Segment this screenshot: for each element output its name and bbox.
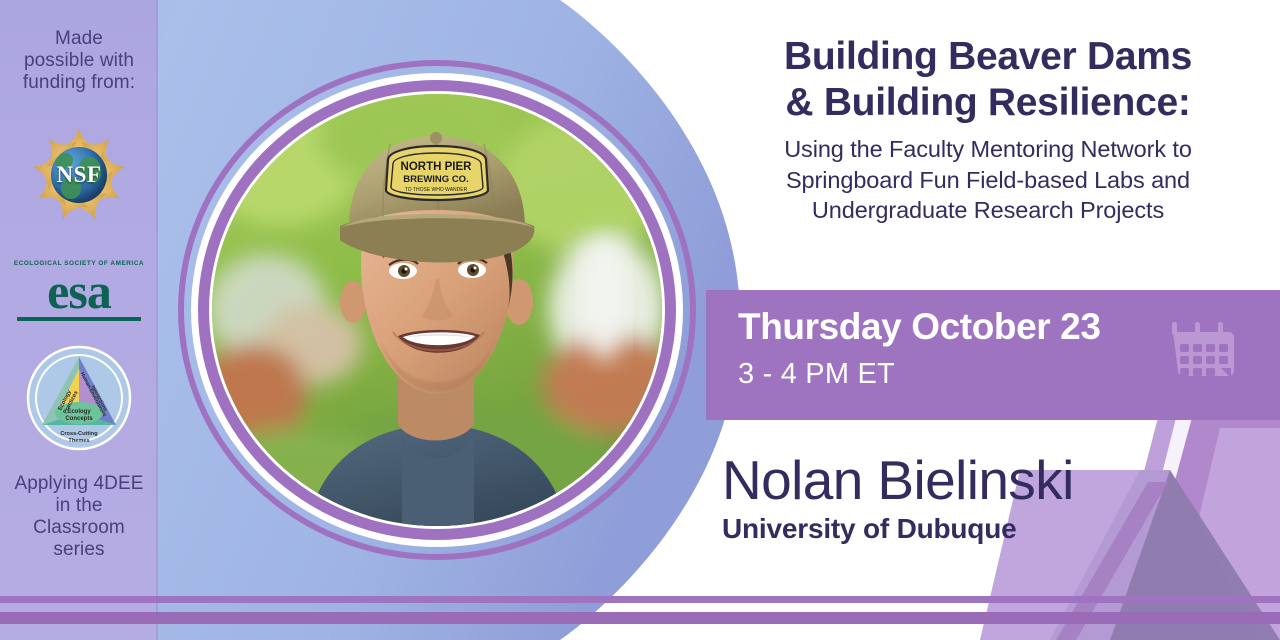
portrait-illustration: NORTH PIER BREWING CO. TO THOSE WHO WAND… — [212, 94, 662, 526]
bottom-rule-thin — [0, 596, 1280, 603]
funding-label: Made possible with funding from: — [9, 28, 149, 94]
sponsors-sidebar: Made possible with funding from: — [0, 0, 158, 640]
event-date: Thursday October 23 — [738, 306, 1101, 348]
svg-text:TO THOSE WHO WANDER: TO THOSE WHO WANDER — [405, 187, 468, 193]
subtitle-line-2: Springboard Fun Field-based Labs and — [714, 165, 1262, 196]
speaker-portrait: NORTH PIER BREWING CO. TO THOSE WHO WAND… — [178, 60, 696, 560]
nsf-logo: NSF — [20, 116, 138, 234]
esa-wordmark: esa — [14, 268, 144, 315]
svg-text:Cross-Cutting: Cross-Cutting — [60, 431, 98, 437]
event-date-banner: Thursday October 23 3 - 4 PM ET — [706, 290, 1280, 420]
speaker-photo: NORTH PIER BREWING CO. TO THOSE WHO WAND… — [212, 94, 662, 526]
speaker-name: Nolan Bielinski — [722, 452, 1074, 509]
svg-text:Ecology: Ecology — [67, 409, 91, 415]
calendar-icon — [1166, 316, 1242, 392]
subtitle-line-1: Using the Faculty Mentoring Network to — [714, 134, 1262, 165]
title-block: Building Beaver Dams & Building Resilien… — [714, 34, 1262, 226]
subtitle: Using the Faculty Mentoring Network to S… — [714, 134, 1262, 226]
title-line-1: Building Beaver Dams — [714, 34, 1262, 80]
webinar-promo-poster: Made possible with funding from: — [0, 0, 1280, 640]
event-time: 3 - 4 PM ET — [738, 358, 895, 391]
bottom-rule-thick — [0, 612, 1280, 624]
speaker-block: Nolan Bielinski University of Dubuque — [722, 452, 1074, 545]
esa-logo: ECOLOGICAL SOCIETY OF AMERICA esa — [14, 260, 144, 321]
svg-text:Concepts: Concepts — [65, 416, 93, 422]
speaker-affiliation: University of Dubuque — [722, 513, 1074, 545]
subtitle-line-3: Undergraduate Research Projects — [714, 195, 1262, 226]
svg-text:Themes: Themes — [68, 438, 89, 444]
series-label: Applying 4DEE in the Classroom series — [4, 473, 154, 561]
svg-text:BREWING CO.: BREWING CO. — [403, 174, 468, 185]
nsf-wordmark: NSF — [20, 162, 138, 188]
title-line-2: & Building Resilience: — [714, 80, 1262, 126]
svg-text:NORTH PIER: NORTH PIER — [401, 161, 473, 173]
4dee-logo: Ecology Practices Human-Environment Inte… — [26, 345, 132, 451]
4dee-tetrahedron-icon: Ecology Practices Human-Environment Inte… — [26, 345, 132, 451]
